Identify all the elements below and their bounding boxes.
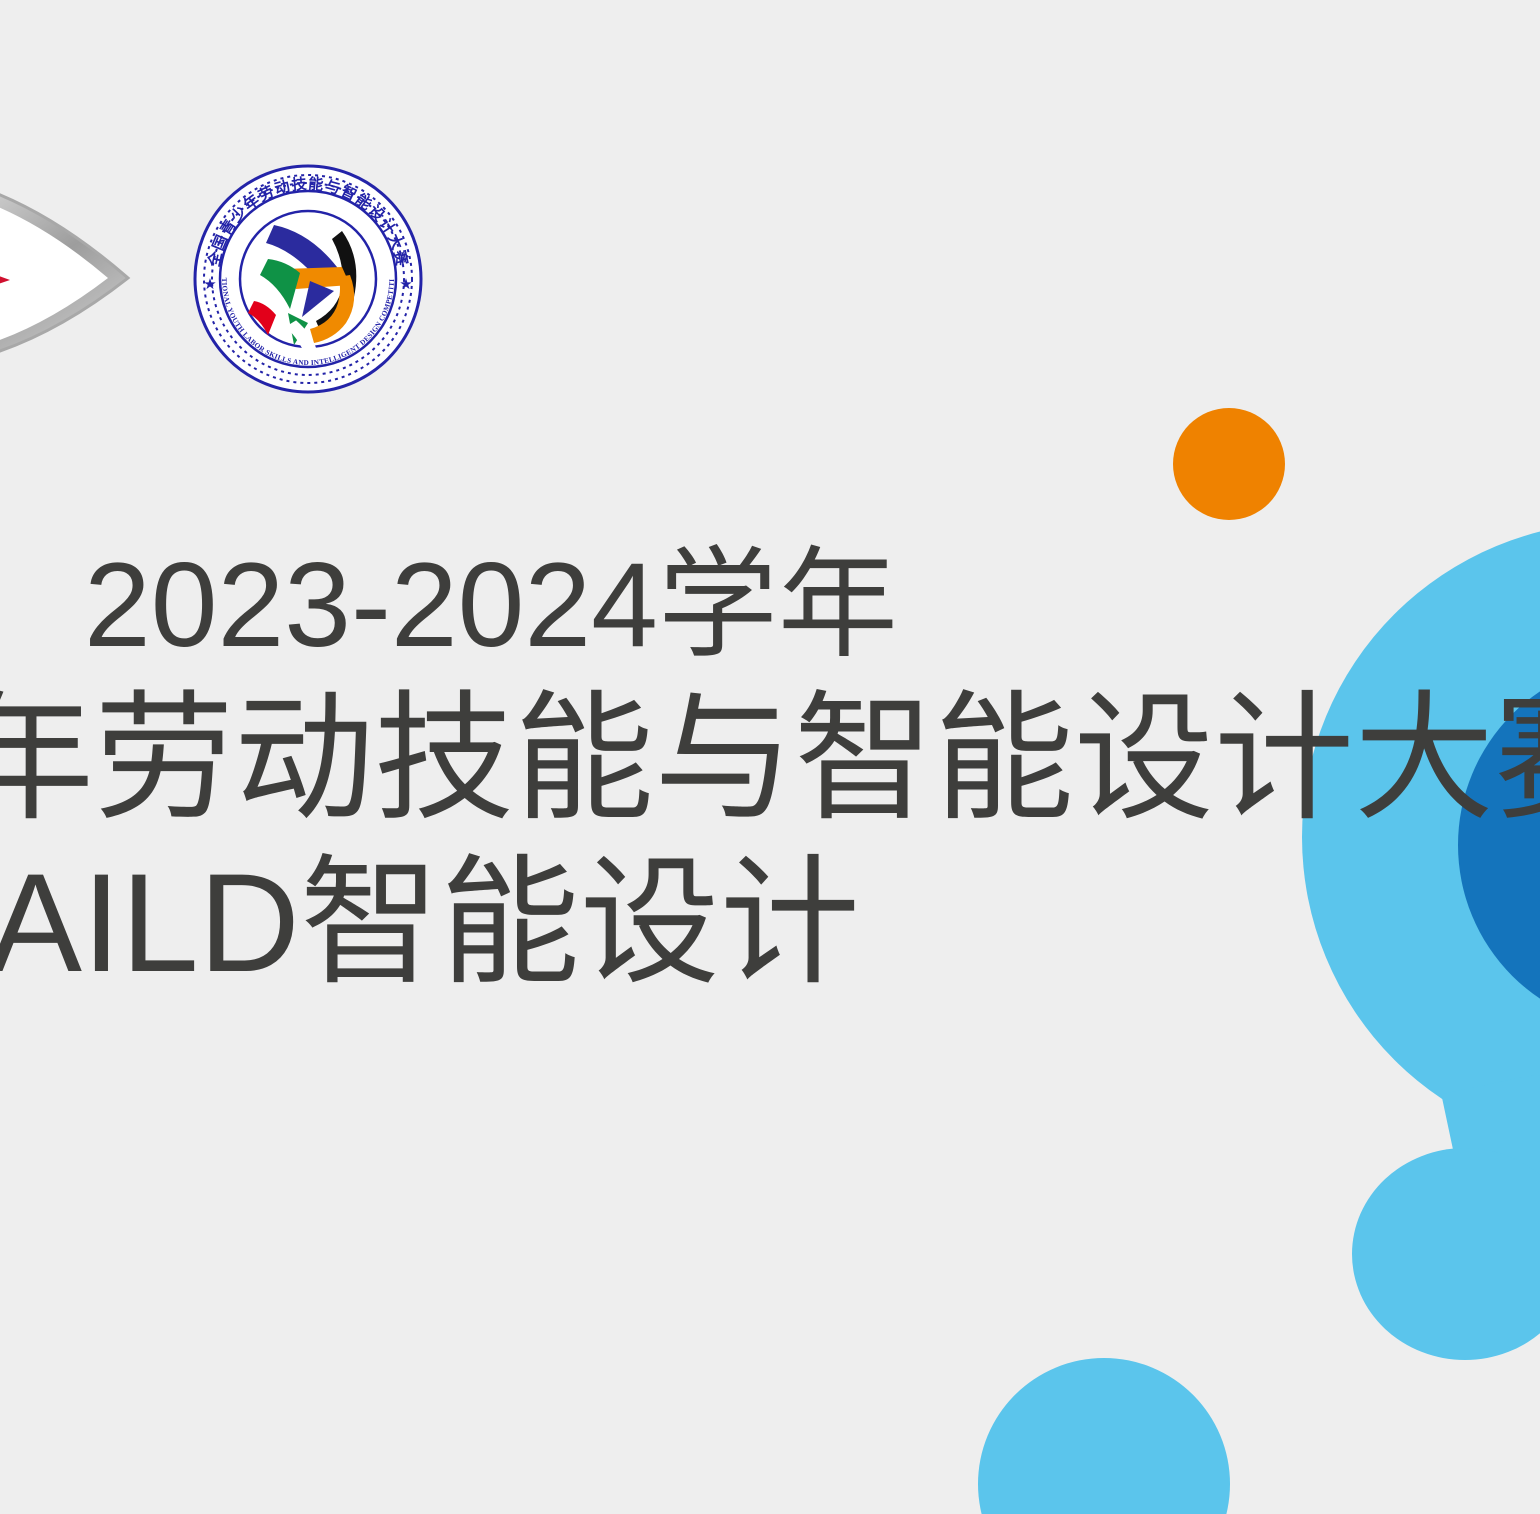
bottom-light-blue-circle-decoration <box>978 1358 1230 1514</box>
emblem-star-left-icon: ★ <box>203 276 216 293</box>
slide-canvas: 化学会 全国青少年劳动技能与智能设计大赛 NATIONAL YOUTH LABO… <box>0 0 1540 1514</box>
society-logo: 化学会 <box>0 140 140 390</box>
slide-title: 2023-2024学年 年劳动技能与智能设计大赛 -AILD智能设计 <box>0 545 1540 993</box>
blue-blob-drop-decoration <box>1352 1148 1540 1360</box>
title-line-3: -AILD智能设计 <box>0 853 1540 993</box>
emblem-star-right-icon: ★ <box>399 276 412 293</box>
title-line-2: 年劳动技能与智能设计大赛 <box>0 689 1540 829</box>
competition-emblem: 全国青少年劳动技能与智能设计大赛 NATIONAL YOUTH LABOR SK… <box>192 163 424 395</box>
orange-circle-decoration <box>1173 408 1285 520</box>
title-line-1: 2023-2024学年 <box>0 545 1540 665</box>
